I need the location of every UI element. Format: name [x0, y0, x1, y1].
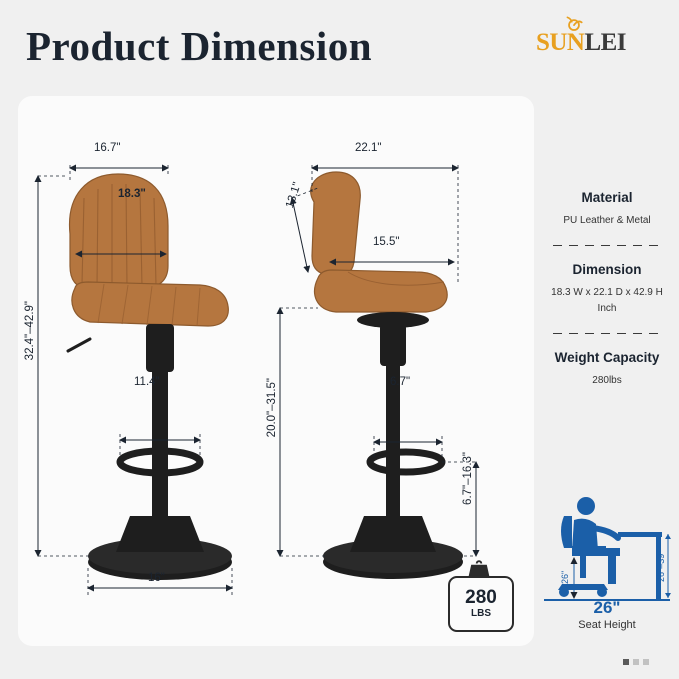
side-overall-depth-label: 22.1": [355, 142, 381, 154]
weight-title: Weight Capacity: [548, 350, 666, 365]
dimension-unit: Inch: [548, 302, 666, 317]
front-base-width-label: 16": [148, 572, 165, 584]
pagination-dots[interactable]: [623, 659, 649, 665]
diagram-card: 16.7" 18.3" 32.4"–42.9" 11.4" 16" 22.1" …: [18, 96, 534, 646]
weight-icon: [466, 558, 492, 578]
page-title: Product Dimension: [26, 22, 372, 70]
side-footrest-height-range-label: 6.7"–16.3": [462, 452, 474, 505]
front-footrest-width-label: 11.4": [134, 376, 160, 388]
side-footrest-depth-label: 6.7": [390, 376, 410, 388]
side-seat-height-range-label: 20.0"–31.5": [266, 378, 278, 437]
pagination-dot-2[interactable]: [633, 659, 639, 665]
dimension-title: Dimension: [548, 262, 666, 277]
front-seat-width-label: 16.7": [94, 142, 120, 154]
seat-height-label: Seat Height: [548, 619, 666, 631]
front-backrest-label: 18.3": [118, 188, 146, 200]
dimension-value: 18.3 W x 22.1 D x 42.9 H: [548, 286, 666, 301]
weight-capacity-badge: 280 LBS: [448, 576, 514, 632]
spec-divider-1: [553, 245, 661, 246]
sun-icon: [563, 13, 585, 35]
brand-mark: SUNLEI: [511, 30, 651, 56]
spec-divider-2: [553, 333, 661, 334]
weight-value: 280lbs: [548, 374, 666, 389]
desk-height-mark: 26"–39": [656, 551, 666, 582]
seat-height-caption: 26" Seat Height: [548, 598, 666, 631]
front-overall-height-label: 32.4"–42.9": [24, 301, 36, 360]
seat-height-value: 26": [548, 598, 666, 618]
pagination-dot-3[interactable]: [643, 659, 649, 665]
pagination-dot-1[interactable]: [623, 659, 629, 665]
chair-height-mark: 26": [560, 571, 570, 584]
brand-logo: SUNLEI: [511, 30, 651, 56]
brand-lei-text: LEI: [584, 29, 626, 56]
spec-list: Material PU Leather & Metal Dimension 18…: [548, 190, 666, 388]
weight-badge-unit: LBS: [471, 607, 491, 621]
side-seat-depth-label: 15.5": [373, 236, 399, 248]
product-dimension-page: Product Dimension SUNLEI: [0, 0, 679, 679]
material-value: PU Leather & Metal: [548, 214, 666, 229]
stool-dimension-drawing: [18, 96, 534, 646]
material-title: Material: [548, 190, 666, 205]
weight-badge-number: 280: [465, 588, 497, 607]
